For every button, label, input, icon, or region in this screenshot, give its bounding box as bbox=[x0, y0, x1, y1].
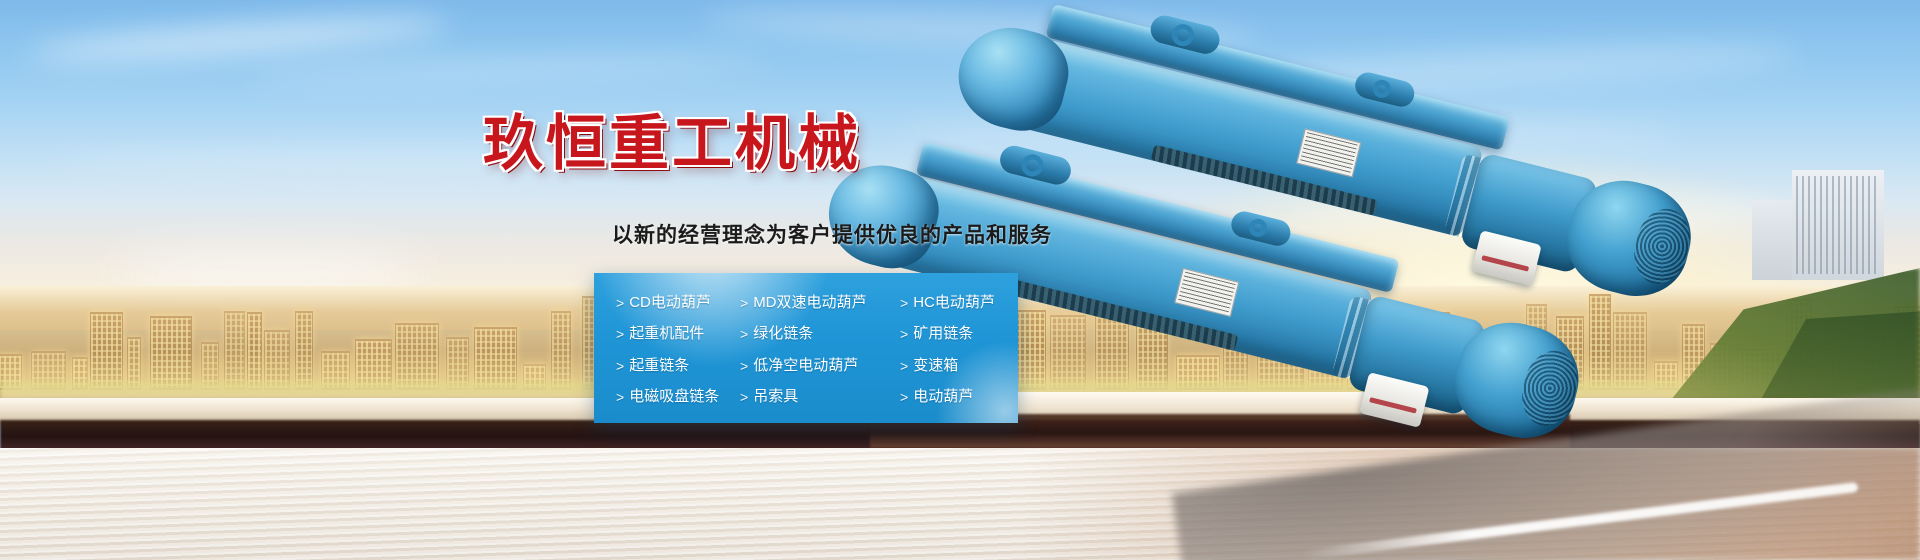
product-link[interactable]: >绿化链条 bbox=[740, 325, 900, 343]
chevron-right-icon: > bbox=[616, 325, 624, 343]
chevron-right-icon: > bbox=[616, 357, 624, 375]
product-link-label: HC电动葫芦 bbox=[913, 294, 995, 312]
product-link-label: 矿用链条 bbox=[913, 325, 973, 343]
chevron-right-icon: > bbox=[740, 325, 748, 343]
product-link-label: 变速箱 bbox=[913, 357, 958, 375]
banner-subheadline: 以新的经营理念为客户提供优良的产品和服务 bbox=[612, 222, 1052, 250]
chevron-right-icon: > bbox=[900, 294, 908, 312]
product-link-label: 绿化链条 bbox=[753, 325, 813, 343]
product-link[interactable]: >电磁吸盘链条 bbox=[616, 388, 740, 406]
product-link[interactable]: >电动葫芦 bbox=[900, 388, 1040, 406]
chevron-right-icon: > bbox=[616, 294, 624, 312]
banner-headline: 玖恒重工机械 bbox=[483, 112, 861, 176]
product-link[interactable]: >变速箱 bbox=[900, 357, 1040, 375]
product-links-panel: >CD电动葫芦>MD双速电动葫芦>HC电动葫芦>起重机配件>绿化链条>矿用链条>… bbox=[594, 273, 1018, 423]
chevron-right-icon: > bbox=[740, 357, 748, 375]
product-link-label: 电磁吸盘链条 bbox=[629, 388, 719, 406]
chevron-right-icon: > bbox=[900, 325, 908, 343]
chevron-right-icon: > bbox=[616, 388, 624, 406]
product-link-label: 起重链条 bbox=[629, 357, 689, 375]
product-link[interactable]: >CD电动葫芦 bbox=[616, 294, 740, 312]
product-link-label: 吊索具 bbox=[753, 388, 798, 406]
product-link-label: 低净空电动葫芦 bbox=[753, 357, 858, 375]
product-link[interactable]: >低净空电动葫芦 bbox=[740, 357, 900, 375]
background-tower bbox=[1792, 170, 1884, 280]
chevron-right-icon: > bbox=[900, 388, 908, 406]
product-link[interactable]: >起重机配件 bbox=[616, 325, 740, 343]
background-tower bbox=[1752, 200, 1792, 280]
product-link[interactable]: >MD双速电动葫芦 bbox=[740, 294, 900, 312]
chevron-right-icon: > bbox=[740, 294, 748, 312]
product-link[interactable]: >矿用链条 bbox=[900, 325, 1040, 343]
product-link-label: 电动葫芦 bbox=[913, 388, 973, 406]
product-link-label: MD双速电动葫芦 bbox=[753, 294, 866, 312]
hero-banner: 玖恒重工机械 以新的经营理念为客户提供优良的产品和服务 >CD电动葫芦>MD双速… bbox=[0, 0, 1920, 560]
product-link[interactable]: >吊索具 bbox=[740, 388, 900, 406]
product-links-grid: >CD电动葫芦>MD双速电动葫芦>HC电动葫芦>起重机配件>绿化链条>矿用链条>… bbox=[594, 273, 1018, 423]
chevron-right-icon: > bbox=[740, 388, 748, 406]
product-link-label: CD电动葫芦 bbox=[629, 294, 711, 312]
product-link-label: 起重机配件 bbox=[629, 325, 704, 343]
chevron-right-icon: > bbox=[900, 357, 908, 375]
product-link[interactable]: >HC电动葫芦 bbox=[900, 294, 1040, 312]
product-link[interactable]: >起重链条 bbox=[616, 357, 740, 375]
